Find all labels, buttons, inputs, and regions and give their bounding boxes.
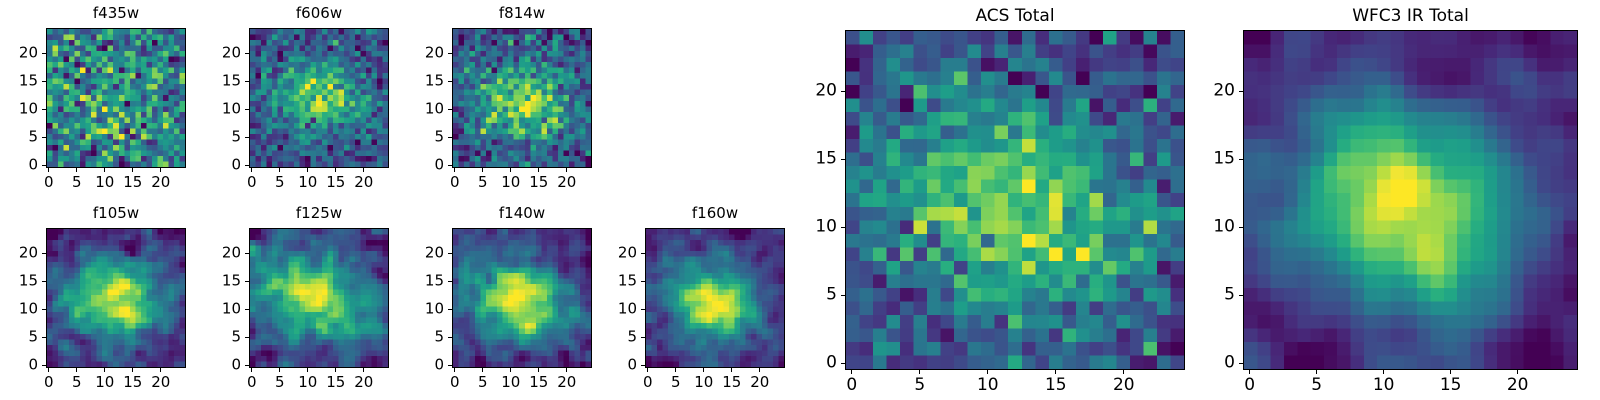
xticklabel-f140w-3: 15 [529, 375, 548, 390]
ytick-f606w-4 [245, 53, 249, 54]
xtick-f105w-2 [104, 368, 105, 372]
ytick-f435w-4 [42, 53, 46, 54]
panel-f160w: f160w0510152005101520 [645, 228, 785, 368]
yticklabel-f105w-0: 0 [28, 358, 38, 373]
xtick-f606w-4 [363, 168, 364, 172]
heatmap-image-f105w [47, 229, 185, 367]
image-axes-f606w [249, 28, 389, 168]
xticklabel-f105w-4: 20 [151, 375, 170, 390]
image-axes-acs-total [845, 30, 1185, 370]
xtick-f105w-0 [48, 368, 49, 372]
ytick-f814w-3 [448, 81, 452, 82]
ytick-f814w-0 [448, 165, 452, 166]
panel-f606w: f606w0510152005101520 [249, 28, 389, 168]
heatmap-image-acs-total [846, 31, 1184, 369]
yticklabel-f160w-2: 10 [618, 302, 637, 317]
yticklabel-wfc3-ir-total-1: 5 [1224, 287, 1235, 304]
panel-f105w: f105w0510152005101520 [46, 228, 186, 368]
xticklabel-f814w-4: 20 [557, 175, 576, 190]
xticklabel-f140w-4: 20 [557, 375, 576, 390]
xtick-f606w-0 [251, 168, 252, 172]
panel-title-f435w: f435w [46, 6, 186, 21]
ytick-f125w-0 [245, 365, 249, 366]
yticklabel-acs-total-3: 15 [815, 151, 837, 168]
yticklabel-f435w-0: 0 [28, 158, 38, 173]
ytick-f435w-2 [42, 109, 46, 110]
image-axes-f814w [452, 28, 592, 168]
yticklabel-f606w-2: 10 [222, 102, 241, 117]
yticklabel-f160w-1: 5 [627, 330, 637, 345]
xticklabel-acs-total-0: 0 [846, 377, 857, 394]
xtick-wfc3-ir-total-0 [1249, 370, 1250, 374]
ytick-f140w-4 [448, 253, 452, 254]
xtick-wfc3-ir-total-1 [1316, 370, 1317, 374]
ytick-f435w-1 [42, 137, 46, 138]
yticklabel-f160w-3: 15 [618, 274, 637, 289]
panel-f125w: f125w0510152005101520 [249, 228, 389, 368]
yticklabel-f606w-1: 5 [231, 130, 241, 145]
xtick-f125w-3 [335, 368, 336, 372]
ytick-f125w-4 [245, 253, 249, 254]
yticklabel-wfc3-ir-total-0: 0 [1224, 355, 1235, 372]
image-axes-f105w [46, 228, 186, 368]
xticklabel-wfc3-ir-total-0: 0 [1244, 377, 1255, 394]
xtick-f160w-1 [675, 368, 676, 372]
heatmap-image-wfc3-ir-total [1244, 31, 1577, 369]
yticklabel-f606w-3: 15 [222, 74, 241, 89]
yticklabel-f125w-4: 20 [222, 246, 241, 261]
ytick-acs-total-3 [841, 159, 845, 160]
xticklabel-f125w-4: 20 [354, 375, 373, 390]
yticklabel-f140w-3: 15 [425, 274, 444, 289]
xticklabel-f435w-0: 0 [44, 175, 54, 190]
yticklabel-f140w-4: 20 [425, 246, 444, 261]
ytick-f105w-4 [42, 253, 46, 254]
yticklabel-acs-total-1: 5 [826, 287, 837, 304]
yticklabel-wfc3-ir-total-2: 10 [1213, 219, 1235, 236]
xticklabel-f125w-1: 5 [275, 375, 285, 390]
ytick-f160w-2 [641, 309, 645, 310]
xtick-f105w-3 [132, 368, 133, 372]
panel-title-f105w: f105w [46, 206, 186, 221]
xticklabel-f140w-0: 0 [450, 375, 460, 390]
ytick-f105w-3 [42, 281, 46, 282]
xticklabel-f105w-2: 10 [95, 375, 114, 390]
yticklabel-f814w-4: 20 [425, 46, 444, 61]
xticklabel-f606w-0: 0 [247, 175, 257, 190]
yticklabel-f105w-2: 10 [19, 302, 38, 317]
xticklabel-f435w-4: 20 [151, 175, 170, 190]
ytick-wfc3-ir-total-3 [1239, 159, 1243, 160]
ytick-acs-total-2 [841, 227, 845, 228]
ytick-f435w-0 [42, 165, 46, 166]
xtick-f160w-0 [647, 368, 648, 372]
ytick-f814w-1 [448, 137, 452, 138]
ytick-wfc3-ir-total-1 [1239, 295, 1243, 296]
xtick-f435w-1 [76, 168, 77, 172]
xticklabel-acs-total-1: 5 [914, 377, 925, 394]
ytick-f125w-1 [245, 337, 249, 338]
heatmap-image-f435w [47, 29, 185, 167]
ytick-acs-total-1 [841, 295, 845, 296]
xticklabel-acs-total-4: 20 [1113, 377, 1135, 394]
yticklabel-f814w-1: 5 [434, 130, 444, 145]
ytick-f814w-4 [448, 53, 452, 54]
xtick-wfc3-ir-total-2 [1383, 370, 1384, 374]
xticklabel-f105w-0: 0 [44, 375, 54, 390]
ytick-f160w-0 [641, 365, 645, 366]
xticklabel-f606w-4: 20 [354, 175, 373, 190]
image-axes-f125w [249, 228, 389, 368]
ytick-f125w-2 [245, 309, 249, 310]
yticklabel-f435w-4: 20 [19, 46, 38, 61]
xticklabel-wfc3-ir-total-3: 15 [1440, 377, 1462, 394]
xtick-f435w-4 [160, 168, 161, 172]
xtick-f140w-3 [538, 368, 539, 372]
xtick-f140w-2 [510, 368, 511, 372]
ytick-acs-total-4 [841, 91, 845, 92]
ytick-f140w-1 [448, 337, 452, 338]
xtick-acs-total-0 [851, 370, 852, 374]
xtick-f606w-3 [335, 168, 336, 172]
xtick-f160w-4 [759, 368, 760, 372]
xticklabel-acs-total-3: 15 [1045, 377, 1067, 394]
ytick-f125w-3 [245, 281, 249, 282]
ytick-f140w-0 [448, 365, 452, 366]
yticklabel-f814w-3: 15 [425, 74, 444, 89]
xtick-f125w-0 [251, 368, 252, 372]
xticklabel-f125w-2: 10 [298, 375, 317, 390]
xticklabel-f160w-4: 20 [750, 375, 769, 390]
panel-f140w: f140w0510152005101520 [452, 228, 592, 368]
xtick-wfc3-ir-total-3 [1450, 370, 1451, 374]
xticklabel-f160w-1: 5 [671, 375, 681, 390]
yticklabel-wfc3-ir-total-4: 20 [1213, 83, 1235, 100]
yticklabel-f105w-1: 5 [28, 330, 38, 345]
yticklabel-acs-total-4: 20 [815, 83, 837, 100]
ytick-f606w-1 [245, 137, 249, 138]
yticklabel-f105w-4: 20 [19, 246, 38, 261]
ytick-f105w-1 [42, 337, 46, 338]
ytick-f814w-2 [448, 109, 452, 110]
heatmap-image-f160w [646, 229, 784, 367]
panel-f814w: f814w0510152005101520 [452, 28, 592, 168]
xticklabel-f125w-0: 0 [247, 375, 257, 390]
yticklabel-f125w-1: 5 [231, 330, 241, 345]
xtick-f814w-4 [566, 168, 567, 172]
ytick-f435w-3 [42, 81, 46, 82]
ytick-f105w-2 [42, 309, 46, 310]
yticklabel-acs-total-2: 10 [815, 219, 837, 236]
xtick-acs-total-4 [1123, 370, 1124, 374]
heatmap-image-f606w [250, 29, 388, 167]
panel-title-acs-total: ACS Total [845, 8, 1185, 25]
xticklabel-f105w-1: 5 [72, 375, 82, 390]
xticklabel-f105w-3: 15 [123, 375, 142, 390]
xtick-f140w-1 [482, 368, 483, 372]
yticklabel-f140w-0: 0 [434, 358, 444, 373]
ytick-f606w-3 [245, 81, 249, 82]
ytick-f160w-1 [641, 337, 645, 338]
xticklabel-f160w-0: 0 [643, 375, 653, 390]
xticklabel-acs-total-2: 10 [977, 377, 999, 394]
yticklabel-f125w-3: 15 [222, 274, 241, 289]
xtick-f814w-0 [454, 168, 455, 172]
xtick-acs-total-2 [987, 370, 988, 374]
xticklabel-f814w-2: 10 [501, 175, 520, 190]
heatmap-image-f140w [453, 229, 591, 367]
xtick-f125w-2 [307, 368, 308, 372]
xtick-f140w-4 [566, 368, 567, 372]
image-axes-f160w [645, 228, 785, 368]
ytick-f105w-0 [42, 365, 46, 366]
xtick-f125w-1 [279, 368, 280, 372]
xtick-f435w-0 [48, 168, 49, 172]
xtick-f105w-1 [76, 368, 77, 372]
xtick-f814w-1 [482, 168, 483, 172]
xticklabel-f160w-2: 10 [694, 375, 713, 390]
heatmap-image-f125w [250, 229, 388, 367]
xticklabel-f125w-3: 15 [326, 375, 345, 390]
xtick-f125w-4 [363, 368, 364, 372]
xticklabel-f160w-3: 15 [722, 375, 741, 390]
xtick-f606w-1 [279, 168, 280, 172]
ytick-wfc3-ir-total-0 [1239, 363, 1243, 364]
panel-title-f140w: f140w [452, 206, 592, 221]
panel-wfc3-ir-total: WFC3 IR Total0510152005101520 [1243, 30, 1578, 370]
yticklabel-f435w-2: 10 [19, 102, 38, 117]
ytick-wfc3-ir-total-4 [1239, 91, 1243, 92]
ytick-wfc3-ir-total-2 [1239, 227, 1243, 228]
yticklabel-f140w-1: 5 [434, 330, 444, 345]
yticklabel-f814w-0: 0 [434, 158, 444, 173]
figure-canvas: f435w0510152005101520f606w05101520051015… [0, 0, 1600, 400]
panel-title-f606w: f606w [249, 6, 389, 21]
xticklabel-f435w-3: 15 [123, 175, 142, 190]
yticklabel-f160w-4: 20 [618, 246, 637, 261]
yticklabel-f606w-4: 20 [222, 46, 241, 61]
yticklabel-f140w-2: 10 [425, 302, 444, 317]
ytick-acs-total-0 [841, 363, 845, 364]
xticklabel-f814w-0: 0 [450, 175, 460, 190]
heatmap-image-f814w [453, 29, 591, 167]
xtick-f105w-4 [160, 368, 161, 372]
yticklabel-f435w-3: 15 [19, 74, 38, 89]
yticklabel-f125w-0: 0 [231, 358, 241, 373]
ytick-f140w-3 [448, 281, 452, 282]
ytick-f160w-4 [641, 253, 645, 254]
xtick-f160w-2 [703, 368, 704, 372]
xticklabel-wfc3-ir-total-2: 10 [1373, 377, 1395, 394]
xticklabel-f140w-1: 5 [478, 375, 488, 390]
yticklabel-f606w-0: 0 [231, 158, 241, 173]
image-axes-f140w [452, 228, 592, 368]
panel-title-f160w: f160w [645, 206, 785, 221]
xticklabel-f814w-1: 5 [478, 175, 488, 190]
yticklabel-f105w-3: 15 [19, 274, 38, 289]
xtick-f814w-2 [510, 168, 511, 172]
panel-title-f125w: f125w [249, 206, 389, 221]
xtick-f814w-3 [538, 168, 539, 172]
panel-f435w: f435w0510152005101520 [46, 28, 186, 168]
xticklabel-f435w-2: 10 [95, 175, 114, 190]
xticklabel-f814w-3: 15 [529, 175, 548, 190]
xticklabel-f140w-2: 10 [501, 375, 520, 390]
ytick-f140w-2 [448, 309, 452, 310]
xticklabel-wfc3-ir-total-4: 20 [1507, 377, 1529, 394]
xtick-acs-total-3 [1055, 370, 1056, 374]
yticklabel-wfc3-ir-total-3: 15 [1213, 151, 1235, 168]
xticklabel-f606w-1: 5 [275, 175, 285, 190]
xtick-acs-total-1 [919, 370, 920, 374]
xtick-f435w-3 [132, 168, 133, 172]
image-axes-wfc3-ir-total [1243, 30, 1578, 370]
xtick-f140w-0 [454, 368, 455, 372]
panel-title-f814w: f814w [452, 6, 592, 21]
image-axes-f435w [46, 28, 186, 168]
xticklabel-f435w-1: 5 [72, 175, 82, 190]
yticklabel-f160w-0: 0 [627, 358, 637, 373]
yticklabel-f435w-1: 5 [28, 130, 38, 145]
yticklabel-f125w-2: 10 [222, 302, 241, 317]
xtick-f160w-3 [731, 368, 732, 372]
panel-acs-total: ACS Total0510152005101520 [845, 30, 1185, 370]
xtick-f435w-2 [104, 168, 105, 172]
ytick-f160w-3 [641, 281, 645, 282]
xticklabel-f606w-3: 15 [326, 175, 345, 190]
xtick-f606w-2 [307, 168, 308, 172]
xticklabel-wfc3-ir-total-1: 5 [1311, 377, 1322, 394]
ytick-f606w-0 [245, 165, 249, 166]
xticklabel-f606w-2: 10 [298, 175, 317, 190]
xtick-wfc3-ir-total-4 [1517, 370, 1518, 374]
ytick-f606w-2 [245, 109, 249, 110]
yticklabel-acs-total-0: 0 [826, 355, 837, 372]
yticklabel-f814w-2: 10 [425, 102, 444, 117]
panel-title-wfc3-ir-total: WFC3 IR Total [1243, 8, 1578, 25]
